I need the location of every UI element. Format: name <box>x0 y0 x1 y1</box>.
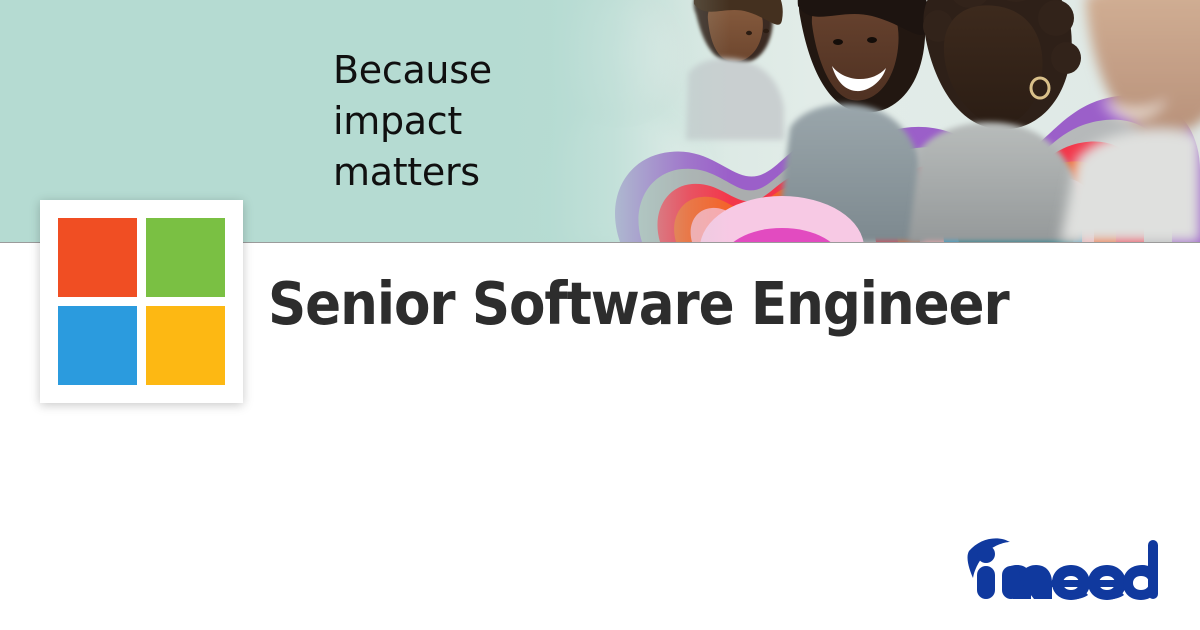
job-posting-card: Because impact matters Senior Software E… <box>0 0 1200 630</box>
banner-photo <box>500 0 1200 242</box>
logo-square-blue <box>58 306 137 385</box>
logo-square-yellow <box>146 306 225 385</box>
logo-square-red <box>58 218 137 297</box>
indeed-logo <box>966 538 1158 600</box>
microsoft-logo <box>58 218 225 385</box>
banner-tagline: Because impact matters <box>333 45 553 198</box>
company-logo-card <box>40 200 243 403</box>
page-title: Senior Software Engineer <box>268 267 1009 341</box>
logo-square-green <box>146 218 225 297</box>
